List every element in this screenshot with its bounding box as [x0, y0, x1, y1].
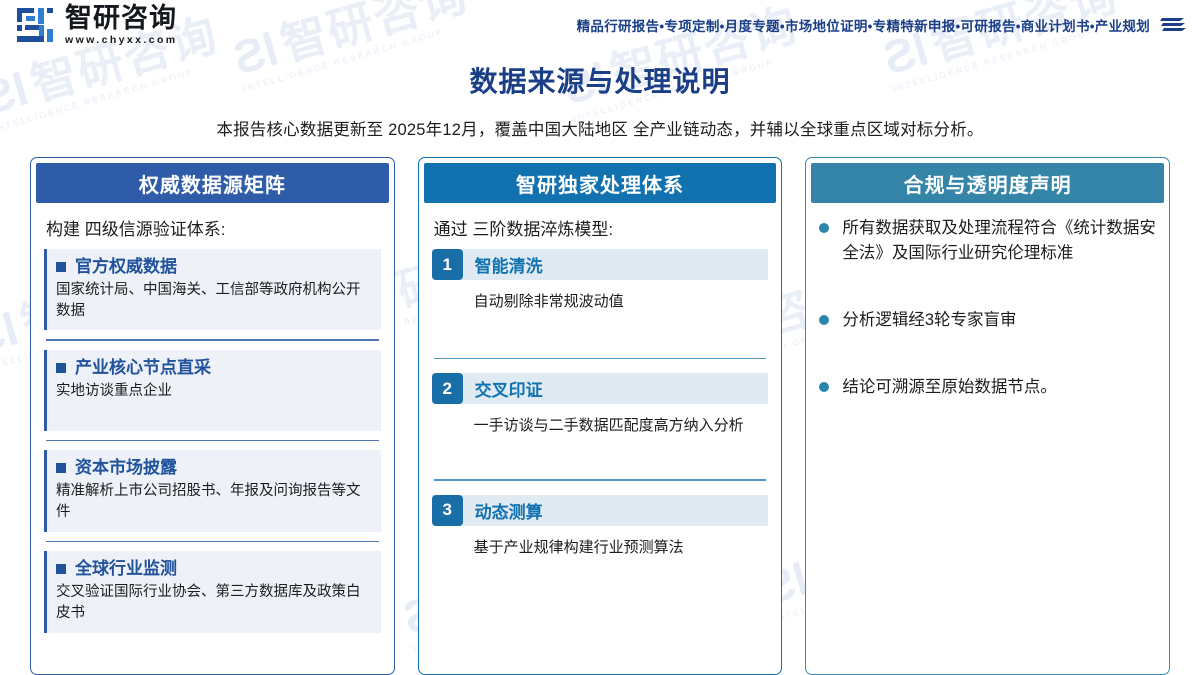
process-step-name: 交叉印证: [463, 373, 543, 404]
page-title: 数据来源与处理说明: [0, 60, 1200, 100]
process-step-head: 3 动态测算: [432, 495, 769, 526]
source-item[interactable]: 产业核心节点直采 实地访谈重点企业: [44, 350, 381, 431]
process-step[interactable]: 3 动态测算 基于产业规律构建行业预测算法: [432, 495, 769, 559]
page-subtitle: 本报告核心数据更新至 2025年12月，覆盖中国大陆地区 全产业链动态，并辅以全…: [0, 116, 1200, 140]
brand-logo[interactable]: 智研咨询 www.chyxx.com: [16, 5, 178, 46]
square-bullet-icon: [56, 463, 66, 473]
dot-bullet-icon: [819, 223, 829, 233]
list-item[interactable]: 结论可溯源至原始数据节点。: [819, 375, 1156, 400]
cards-container: 权威数据源矩阵 构建 四级信源验证体系: 官方权威数据 国家统计局、中国海关、工…: [0, 157, 1200, 675]
divider: [46, 541, 379, 543]
step-number-badge: 2: [432, 373, 463, 404]
source-item-desc: 精准解析上市公司招股书、年报及问询报告等文件: [56, 481, 371, 522]
source-item-title: 资本市场披露: [56, 457, 371, 478]
source-item-title: 官方权威数据: [56, 256, 371, 277]
step-number-badge: 1: [432, 249, 463, 280]
process-step-desc: 一手访谈与二手数据匹配度高方纳入分析: [474, 415, 769, 437]
source-item-name: 全球行业监测: [75, 558, 177, 579]
source-item-name: 资本市场披露: [75, 457, 177, 478]
process-step-name: 动态测算: [463, 495, 543, 526]
card2-body: 通过 三阶数据淬炼模型: 1 智能清洗 自动剔除非常规波动值 2 交叉印证 一手…: [419, 203, 782, 674]
page-header: 智研咨询 www.chyxx.com 精品行研报告•专项定制•月度专题•市场地位…: [0, 0, 1200, 50]
source-item-desc: 交叉验证国际行业协会、第三方数据库及政策白皮书: [56, 582, 371, 623]
source-item-name: 产业核心节点直采: [75, 357, 211, 378]
source-item[interactable]: 资本市场披露 精准解析上市公司招股书、年报及问询报告等文件: [44, 450, 381, 531]
header-tagline-text: 精品行研报告•专项定制•月度专题•市场地位证明•专精特新申报•可研报告•商业计划…: [577, 15, 1150, 35]
source-item[interactable]: 全球行业监测 交叉验证国际行业协会、第三方数据库及政策白皮书: [44, 551, 381, 632]
source-item-name: 官方权威数据: [75, 256, 177, 277]
card-processing-system: 智研独家处理体系 通过 三阶数据淬炼模型: 1 智能清洗 自动剔除非常规波动值 …: [418, 157, 783, 675]
logo-website: www.chyxx.com: [65, 35, 178, 46]
process-step-name: 智能清洗: [463, 249, 543, 280]
card-authority-sources: 权威数据源矩阵 构建 四级信源验证体系: 官方权威数据 国家统计局、中国海关、工…: [30, 157, 395, 675]
process-step[interactable]: 2 交叉印证 一手访谈与二手数据匹配度高方纳入分析: [432, 373, 769, 437]
step-number-badge: 3: [432, 495, 463, 526]
divider: [434, 358, 767, 360]
compliance-bullets: 所有数据获取及处理流程符合《统计数据安全法》及国际行业研究伦理标准 分析逻辑经3…: [819, 212, 1156, 427]
bullet-text: 分析逻辑经3轮专家盲审: [842, 308, 1016, 333]
process-step-head: 2 交叉印证: [432, 373, 769, 404]
card2-title: 智研独家处理体系: [424, 163, 777, 203]
bullet-text: 结论可溯源至原始数据节点。: [842, 375, 1057, 400]
divider: [46, 440, 379, 442]
square-bullet-icon: [56, 564, 66, 574]
source-item[interactable]: 官方权威数据 国家统计局、中国海关、工信部等政府机构公开数据: [44, 249, 381, 330]
process-step-head: 1 智能清洗: [432, 249, 769, 280]
card1-body: 构建 四级信源验证体系: 官方权威数据 国家统计局、中国海关、工信部等政府机构公…: [31, 203, 394, 674]
card2-intro: 通过 三阶数据淬炼模型:: [434, 215, 769, 240]
card1-title: 权威数据源矩阵: [36, 163, 389, 203]
list-item[interactable]: 所有数据获取及处理流程符合《统计数据安全法》及国际行业研究伦理标准: [819, 216, 1156, 266]
square-bullet-icon: [56, 363, 66, 373]
source-item-desc: 国家统计局、中国海关、工信部等政府机构公开数据: [56, 280, 371, 321]
header-tagline: 精品行研报告•专项定制•月度专题•市场地位证明•专精特新申报•可研报告•商业计划…: [577, 15, 1186, 36]
list-item[interactable]: 分析逻辑经3轮专家盲审: [819, 308, 1156, 333]
card1-intro: 构建 四级信源验证体系:: [46, 215, 381, 240]
dot-bullet-icon: [819, 315, 829, 325]
stacked-lines-icon: [1160, 15, 1186, 36]
bullet-text: 所有数据获取及处理流程符合《统计数据安全法》及国际行业研究伦理标准: [842, 216, 1156, 266]
process-step-desc: 自动剔除非常规波动值: [474, 291, 769, 313]
process-step-desc: 基于产业规律构建行业预测算法: [474, 537, 769, 559]
card3-title: 合规与透明度声明: [811, 163, 1164, 203]
source-item-desc: 实地访谈重点企业: [56, 381, 371, 402]
divider: [434, 479, 767, 481]
card3-body: 所有数据获取及处理流程符合《统计数据安全法》及国际行业研究伦理标准 分析逻辑经3…: [806, 203, 1169, 674]
process-step[interactable]: 1 智能清洗 自动剔除非常规波动值: [432, 249, 769, 313]
logo-name: 智研咨询: [65, 5, 178, 32]
source-item-title: 全球行业监测: [56, 558, 371, 579]
logo-mark-icon: [16, 7, 56, 43]
square-bullet-icon: [56, 262, 66, 272]
card-compliance-statement: 合规与透明度声明 所有数据获取及处理流程符合《统计数据安全法》及国际行业研究伦理…: [805, 157, 1170, 675]
source-item-title: 产业核心节点直采: [56, 357, 371, 378]
divider: [46, 339, 379, 341]
dot-bullet-icon: [819, 382, 829, 392]
